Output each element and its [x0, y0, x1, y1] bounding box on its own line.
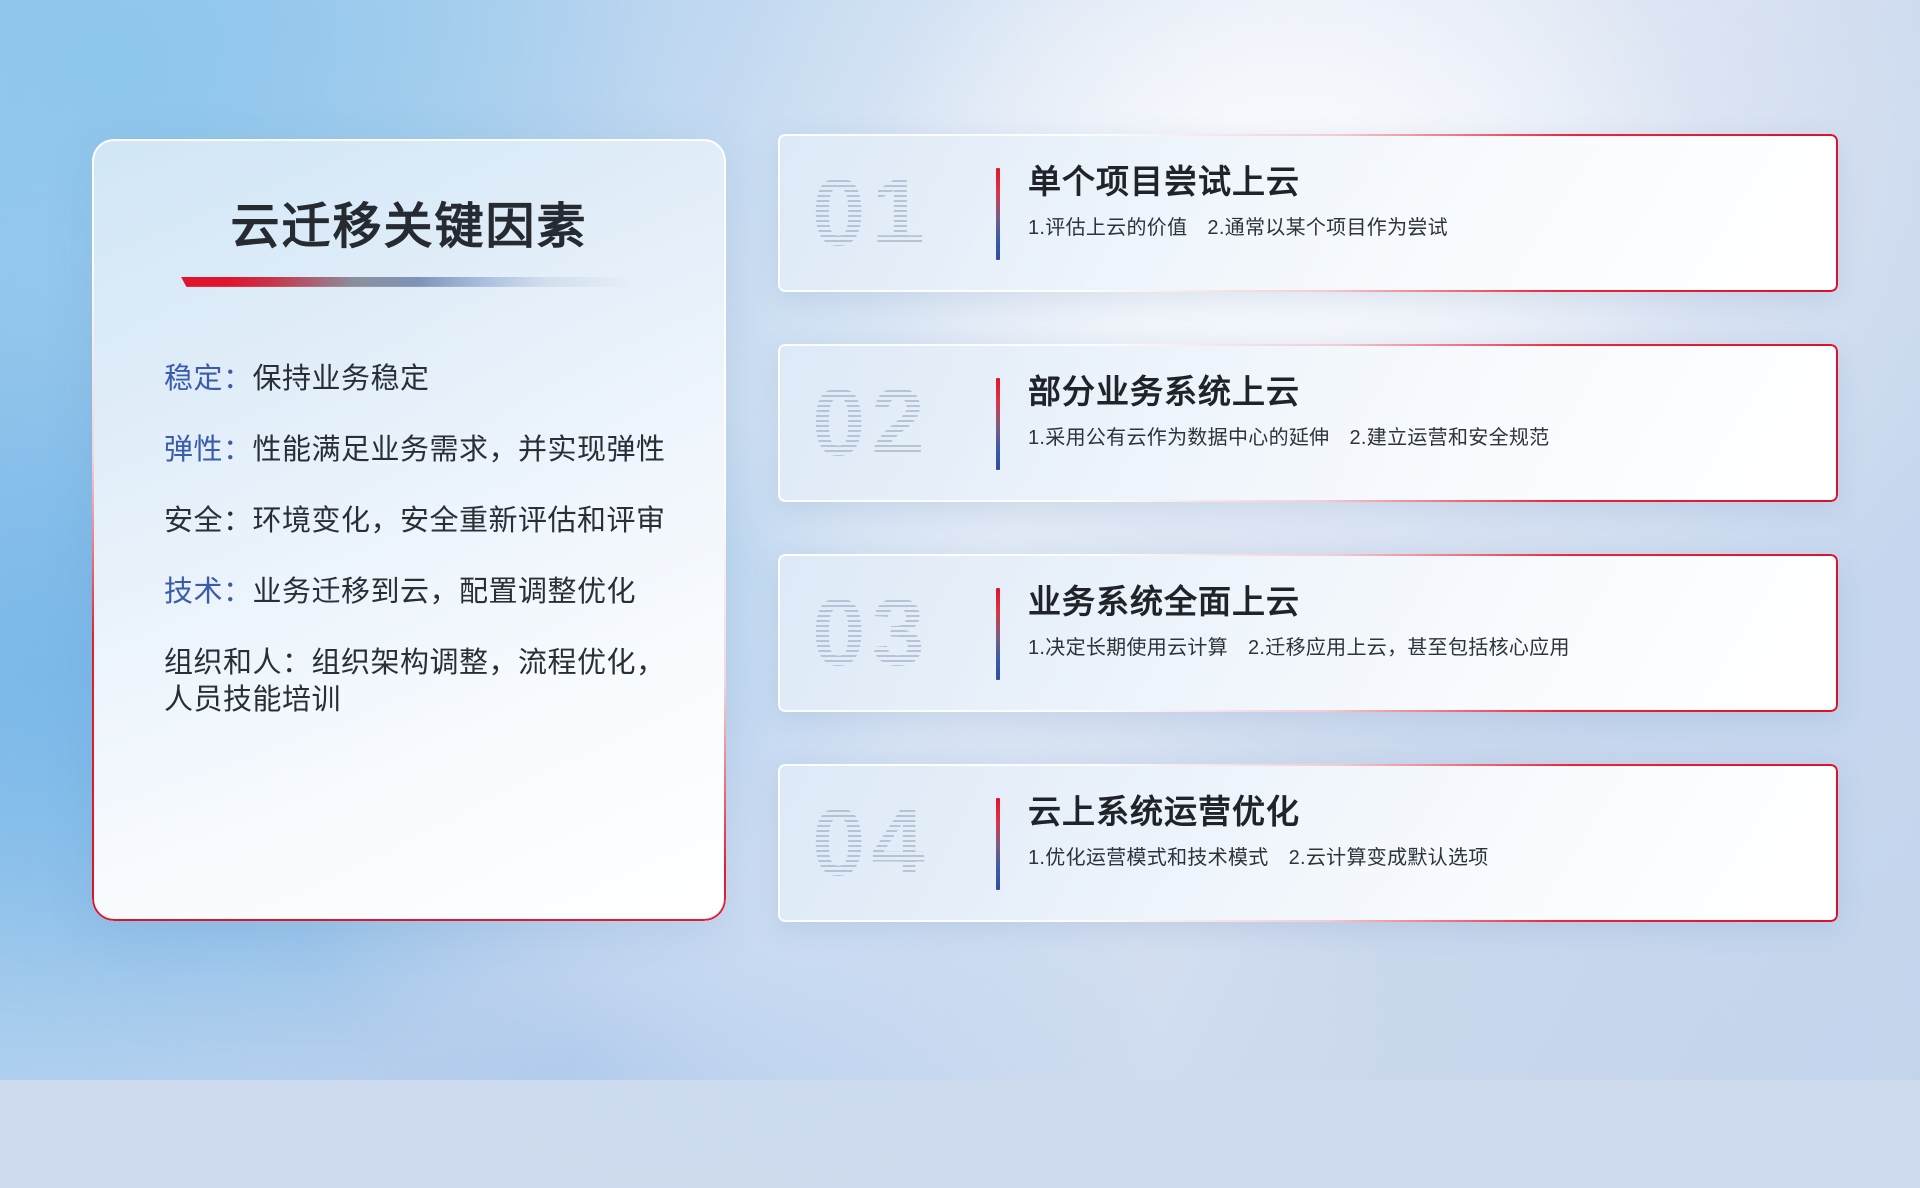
step-description-part-2: 2.云计算变成默认选项 — [1289, 847, 1489, 869]
step-title: 云上系统运营优化 — [1028, 792, 1804, 832]
step-card-04[interactable]: 04 云上系统运营优化 1.优化运营模式和技术模式2.云计算变成默认选项 — [778, 764, 1838, 922]
step-description-part-1: 1.决定长期使用云计算 — [1028, 637, 1228, 659]
step-body: 单个项目尝试上云 1.评估上云的价值2.通常以某个项目作为尝试 — [1028, 162, 1804, 241]
step-number: 02 — [812, 375, 931, 471]
step-divider-bar — [996, 798, 1000, 890]
step-divider-bar — [996, 378, 1000, 470]
step-description-part-2: 2.迁移应用上云，甚至包括核心应用 — [1248, 637, 1570, 659]
page-title: 云迁移关键因素 — [148, 201, 670, 255]
factor-text: 保持业务稳定 — [253, 363, 430, 395]
step-description-part-1: 1.优化运营模式和技术模式 — [1028, 847, 1269, 869]
step-description-part-1: 1.采用公有云作为数据中心的延伸 — [1028, 427, 1329, 449]
list-item: 技术：业务迁移到云，配置调整优化 — [164, 574, 670, 611]
key-factors-panel: 云迁移关键因素 稳定：保持业务稳定 弹性：性能满足业务需求，并实现弹性 安全：环… — [92, 139, 726, 921]
step-description: 1.采用公有云作为数据中心的延伸2.建立运营和安全规范 — [1028, 425, 1804, 451]
step-body: 业务系统全面上云 1.决定长期使用云计算2.迁移应用上云，甚至包括核心应用 — [1028, 582, 1804, 661]
step-number: 04 — [812, 795, 931, 891]
step-card-01[interactable]: 01 单个项目尝试上云 1.评估上云的价值2.通常以某个项目作为尝试 — [778, 134, 1838, 292]
step-description: 1.评估上云的价值2.通常以某个项目作为尝试 — [1028, 215, 1804, 241]
step-description-part-2: 2.建立运营和安全规范 — [1349, 427, 1549, 449]
factor-text: 性能满足业务需求，并实现弹性 — [253, 434, 666, 466]
factor-text: 业务迁移到云，配置调整优化 — [253, 576, 637, 608]
factor-label: 安全： — [164, 505, 253, 537]
factor-label: 弹性： — [164, 434, 253, 466]
step-title: 单个项目尝试上云 — [1028, 162, 1804, 202]
factor-text: 环境变化，安全重新评估和评审 — [253, 505, 666, 537]
step-body: 部分业务系统上云 1.采用公有云作为数据中心的延伸2.建立运营和安全规范 — [1028, 372, 1804, 451]
factor-label: 技术： — [164, 576, 253, 608]
step-number: 01 — [812, 165, 931, 261]
list-item: 弹性：性能满足业务需求，并实现弹性 — [164, 432, 670, 469]
step-divider-bar — [996, 168, 1000, 260]
list-item: 稳定：保持业务稳定 — [164, 361, 670, 398]
list-item: 安全：环境变化，安全重新评估和评审 — [164, 503, 670, 540]
title-underline-rule — [181, 277, 637, 287]
factor-label: 稳定： — [164, 363, 253, 395]
step-title: 业务系统全面上云 — [1028, 582, 1804, 622]
step-body: 云上系统运营优化 1.优化运营模式和技术模式2.云计算变成默认选项 — [1028, 792, 1804, 871]
migration-steps-list: 01 单个项目尝试上云 1.评估上云的价值2.通常以某个项目作为尝试 02 部分… — [778, 134, 1838, 974]
list-item: 组织和人：组织架构调整，流程优化，人员技能培训 — [164, 645, 670, 719]
step-card-02[interactable]: 02 部分业务系统上云 1.采用公有云作为数据中心的延伸2.建立运营和安全规范 — [778, 344, 1838, 502]
step-description: 1.决定长期使用云计算2.迁移应用上云，甚至包括核心应用 — [1028, 635, 1804, 661]
step-number: 03 — [812, 585, 931, 681]
step-description-part-2: 2.通常以某个项目作为尝试 — [1207, 217, 1448, 239]
step-description: 1.优化运营模式和技术模式2.云计算变成默认选项 — [1028, 845, 1804, 871]
step-description-part-1: 1.评估上云的价值 — [1028, 217, 1187, 239]
step-divider-bar — [996, 588, 1000, 680]
factor-list: 稳定：保持业务稳定 弹性：性能满足业务需求，并实现弹性 安全：环境变化，安全重新… — [148, 361, 670, 720]
factor-label: 组织和人： — [164, 647, 312, 679]
step-card-03[interactable]: 03 业务系统全面上云 1.决定长期使用云计算2.迁移应用上云，甚至包括核心应用 — [778, 554, 1838, 712]
key-factors-panel-inner: 云迁移关键因素 稳定：保持业务稳定 弹性：性能满足业务需求，并实现弹性 安全：环… — [92, 139, 726, 720]
step-title: 部分业务系统上云 — [1028, 372, 1804, 412]
